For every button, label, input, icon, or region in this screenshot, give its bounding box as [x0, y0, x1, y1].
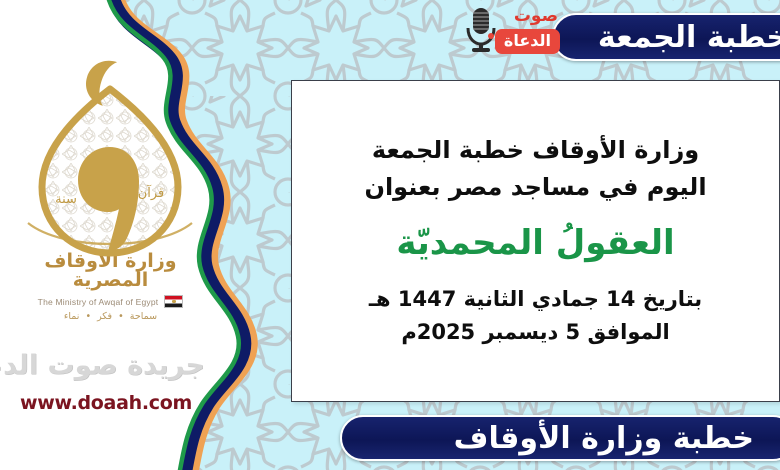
poster-root: قرآن سنة وزارة الأوقاف المصرية The Minis…: [0, 0, 780, 470]
date-hijri: بتاريخ 14 جمادي الثانية 1447 هـ: [369, 283, 702, 317]
mosque-dome-crescent-icon: قرآن سنة: [8, 55, 213, 260]
ministry-english-name: The Ministry of Awqaf of Egypt: [38, 297, 159, 307]
top-banner-friday-sermon: خطبة الجمعة: [552, 13, 780, 61]
ministry-english-row: The Ministry of Awqaf of Egypt: [8, 295, 213, 308]
date-gregorian: الموافق 5 ديسمبر 2025م: [401, 316, 669, 350]
badge-word-aldoaah: الدعاة: [495, 29, 560, 54]
egypt-flag-icon: [164, 295, 183, 308]
bottom-banner-ministry-sermon: خطبة وزارة الأوقاف: [340, 415, 780, 461]
sawt-aldoaah-badge: صوت الدعاة: [462, 2, 560, 58]
logo-word-sunnah: سنة: [55, 192, 77, 207]
announcement-card: وزارة الأوقاف خطبة الجمعة اليوم في مساجد…: [291, 80, 780, 402]
website-url: www.doaah.com: [6, 392, 206, 414]
badge-word-sawt: صوت: [514, 8, 558, 25]
sermon-title: العقولُ المحمديّة: [396, 221, 674, 267]
ministry-slogan: سماحة • فكر • نماء: [8, 311, 213, 322]
logo-word-quran: قرآن: [138, 184, 165, 201]
newspaper-watermark: جريدة صوت الدعاة: [10, 352, 205, 379]
intro-line-2: اليوم في مساجد مصر بعنوان: [364, 169, 706, 206]
microphone-icon: [464, 6, 498, 54]
ministry-logo: قرآن سنة وزارة الأوقاف المصرية The Minis…: [8, 55, 213, 320]
intro-line-1: وزارة الأوقاف خطبة الجمعة: [372, 132, 699, 169]
